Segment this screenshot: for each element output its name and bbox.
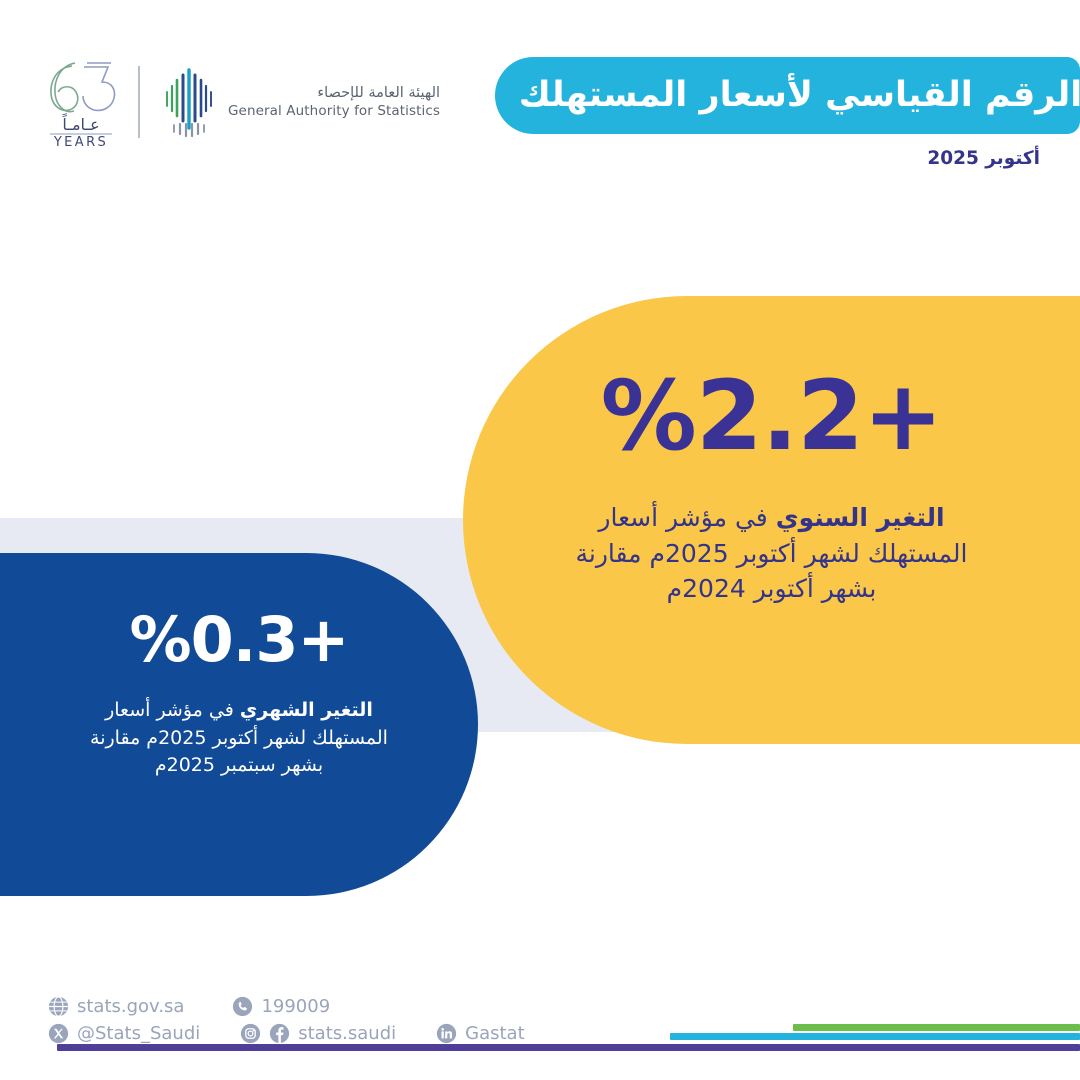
accent-line-purple bbox=[57, 1044, 1080, 1051]
phone-icon bbox=[232, 996, 253, 1017]
svg-text:YEARS: YEARS bbox=[53, 135, 108, 150]
accent-line-green bbox=[793, 1024, 1080, 1031]
anniversary-65-logo: عـامـاً YEARS bbox=[42, 54, 120, 150]
annual-change-value: %2.2+ bbox=[601, 368, 943, 464]
accent-line-cyan bbox=[670, 1033, 1080, 1040]
logo-divider bbox=[138, 66, 140, 138]
annual-change-description: التغير السنوي في مؤشر أسعار المستهلك لشه… bbox=[557, 500, 987, 607]
infographic-canvas: عـامـاً YEARS bbox=[0, 0, 1080, 1080]
footer-website[interactable]: stats.gov.sa bbox=[48, 996, 184, 1017]
page-title: الرقم القياسي لأسعار المستهلك bbox=[519, 78, 1080, 113]
monthly-change-description: التغير الشهري في مؤشر أسعار المستهلك لشه… bbox=[79, 697, 399, 780]
globe-icon bbox=[48, 996, 69, 1017]
monthly-change-value: %0.3+ bbox=[130, 609, 349, 671]
page-title-pill: الرقم القياسي لأسعار المستهلك bbox=[495, 57, 1080, 134]
annual-change-card: %2.2+ التغير السنوي في مؤشر أسعار المسته… bbox=[463, 296, 1080, 744]
authority-name-ar: الهيئة العامة للإحصاء bbox=[228, 85, 440, 101]
decorative-bottom-lines bbox=[0, 1022, 1080, 1062]
report-period: أكتوبر 2025 bbox=[927, 148, 1040, 169]
footer-phone-label: 199009 bbox=[261, 996, 330, 1017]
monthly-change-label-bold: التغير الشهري bbox=[240, 699, 373, 721]
gastat-logo: الهيئة العامة للإحصاء General Authority … bbox=[158, 66, 440, 138]
footer-website-label: stats.gov.sa bbox=[77, 996, 184, 1017]
svg-text:عـامـاً: عـامـاً bbox=[62, 112, 100, 134]
annual-change-label-bold: التغير السنوي bbox=[776, 503, 945, 532]
authority-name-en: General Authority for Statistics bbox=[228, 103, 440, 119]
gastat-mark-icon bbox=[158, 66, 220, 138]
monthly-change-card: %0.3+ التغير الشهري في مؤشر أسعار المسته… bbox=[0, 553, 478, 896]
footer-row-1: stats.gov.sa 199009 bbox=[48, 996, 525, 1017]
brand-logo-block: عـامـاً YEARS bbox=[42, 52, 362, 152]
footer-phone[interactable]: 199009 bbox=[232, 996, 330, 1017]
